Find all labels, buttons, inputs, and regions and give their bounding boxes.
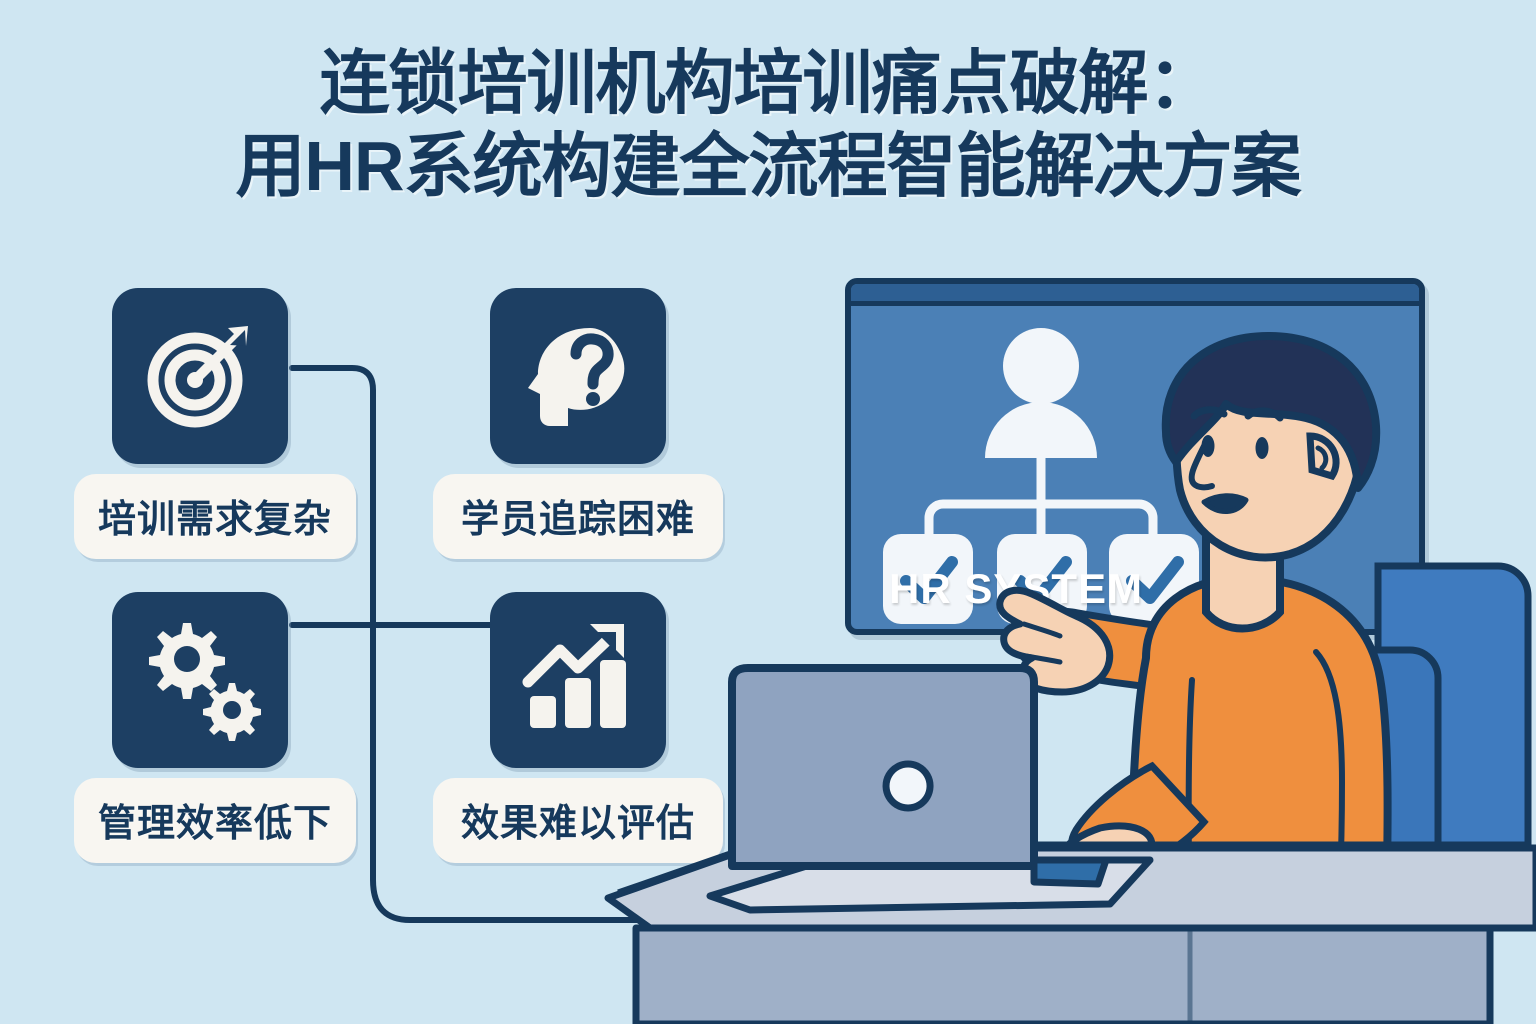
pain-point-icon-tile-3 — [112, 592, 288, 768]
pain-point-icon-tile-1 — [112, 288, 288, 464]
laptop-logo — [886, 764, 930, 808]
head-question-icon — [518, 316, 638, 436]
pain-point-label-3: 管理效率低下 — [98, 803, 332, 845]
pain-point-label-chip-2: 学员追踪困难 — [433, 474, 723, 559]
pain-point-icon-tile-2 — [490, 288, 666, 464]
target-icon — [140, 316, 260, 436]
pain-point-card-1[interactable]: 培训需求复杂 — [112, 288, 356, 559]
pain-point-label-2: 学员追踪困难 — [461, 499, 695, 541]
pain-point-label-chip-1: 培训需求复杂 — [74, 474, 356, 559]
head — [1166, 336, 1376, 557]
pain-point-card-3[interactable]: 管理效率低下 — [112, 592, 356, 863]
pain-point-card-2[interactable]: 学员追踪困难 — [490, 288, 723, 559]
desk-and-laptop — [590, 660, 1536, 1024]
eye — [1256, 437, 1269, 459]
pain-point-label-1: 培训需求复杂 — [98, 499, 332, 541]
monitor-top-bar — [851, 284, 1419, 306]
infographic-canvas: 连锁培训机构培训痛点破解： 用HR系统构建全流程智能解决方案 — [0, 0, 1536, 1024]
pain-point-label-chip-3: 管理效率低下 — [74, 778, 356, 863]
gears-icon — [137, 617, 263, 743]
